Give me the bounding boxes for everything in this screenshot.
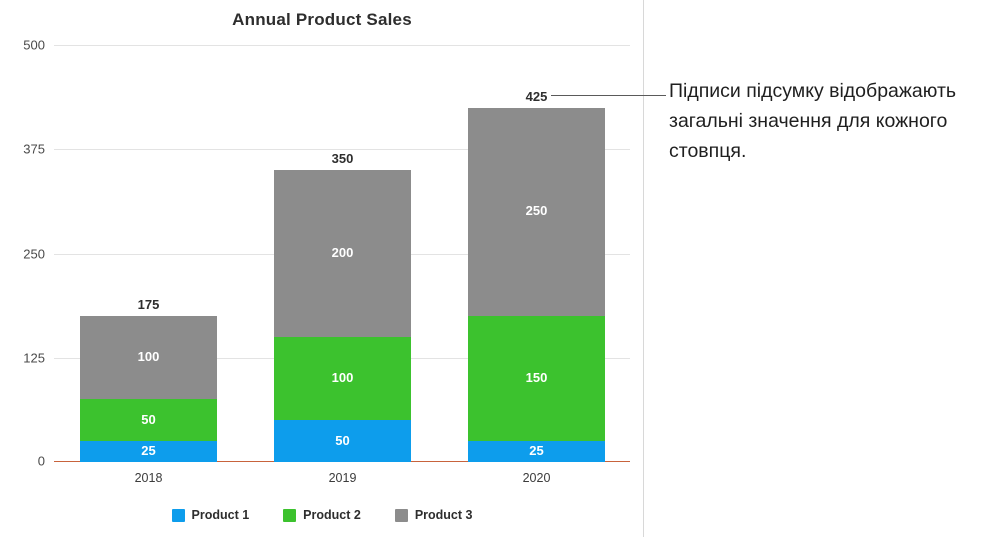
chart-card: Annual Product Sales 500 375 250 125 0 1…: [0, 0, 644, 537]
segment-value-label: 200: [332, 245, 354, 260]
gridline-500: 500: [54, 45, 630, 46]
chart-title: Annual Product Sales: [0, 10, 644, 30]
x-tick-label: 2018: [80, 471, 217, 485]
bar-segment-product-2[interactable]: 100: [274, 337, 411, 420]
legend-item-product-1[interactable]: Product 1: [172, 508, 250, 522]
legend-swatch-icon: [283, 509, 296, 522]
x-tick-label: 2019: [274, 471, 411, 485]
bar-segment-product-3[interactable]: 200: [274, 170, 411, 337]
x-tick-label: 2020: [468, 471, 605, 485]
y-tick-label: 250: [23, 246, 45, 261]
legend-label: Product 2: [303, 508, 361, 522]
stacked-bar[interactable]: 250 150 25: [468, 108, 605, 463]
bar-group: 350 200 100 50 2019: [274, 170, 411, 462]
plot-area: 500 375 250 125 0 175 100 50 25: [54, 45, 630, 462]
y-tick-label: 375: [23, 142, 45, 157]
segment-value-label: 25: [141, 443, 155, 458]
segment-value-label: 50: [141, 412, 155, 427]
segment-value-label: 25: [529, 443, 543, 458]
legend-label: Product 1: [192, 508, 250, 522]
bar-group: 175 100 50 25 2018: [80, 316, 217, 462]
bar-segment-product-1[interactable]: 50: [274, 420, 411, 462]
segment-value-label: 150: [526, 370, 548, 385]
bar-segment-product-2[interactable]: 150: [468, 316, 605, 441]
segment-value-label: 250: [526, 203, 548, 218]
segment-value-label: 50: [335, 433, 349, 448]
bar-segment-product-3[interactable]: 100: [80, 316, 217, 399]
bar-group: 425 250 150 25 2020: [468, 108, 605, 463]
y-tick-label: 125: [23, 350, 45, 365]
legend-item-product-3[interactable]: Product 3: [395, 508, 473, 522]
y-tick-label: 500: [23, 38, 45, 53]
legend-swatch-icon: [172, 509, 185, 522]
legend-item-product-2[interactable]: Product 2: [283, 508, 361, 522]
legend-label: Product 3: [415, 508, 473, 522]
bar-total-label: 175: [80, 297, 217, 312]
bar-segment-product-3[interactable]: 250: [468, 108, 605, 317]
chart-legend: Product 1 Product 2 Product 3: [0, 508, 644, 522]
bar-segment-product-1[interactable]: 25: [468, 441, 605, 462]
legend-swatch-icon: [395, 509, 408, 522]
bar-total-label: 350: [274, 151, 411, 166]
callout-leader-line: [551, 95, 666, 96]
stacked-bar[interactable]: 100 50 25: [80, 316, 217, 462]
segment-value-label: 100: [138, 349, 160, 364]
bar-segment-product-2[interactable]: 50: [80, 399, 217, 441]
bar-total-label: 425: [468, 89, 605, 104]
bar-segment-product-1[interactable]: 25: [80, 441, 217, 462]
callout-text: Підписи підсумку відображають загальні з…: [669, 76, 979, 166]
segment-value-label: 100: [332, 370, 354, 385]
y-tick-label: 0: [38, 454, 45, 469]
stacked-bar[interactable]: 200 100 50: [274, 170, 411, 462]
